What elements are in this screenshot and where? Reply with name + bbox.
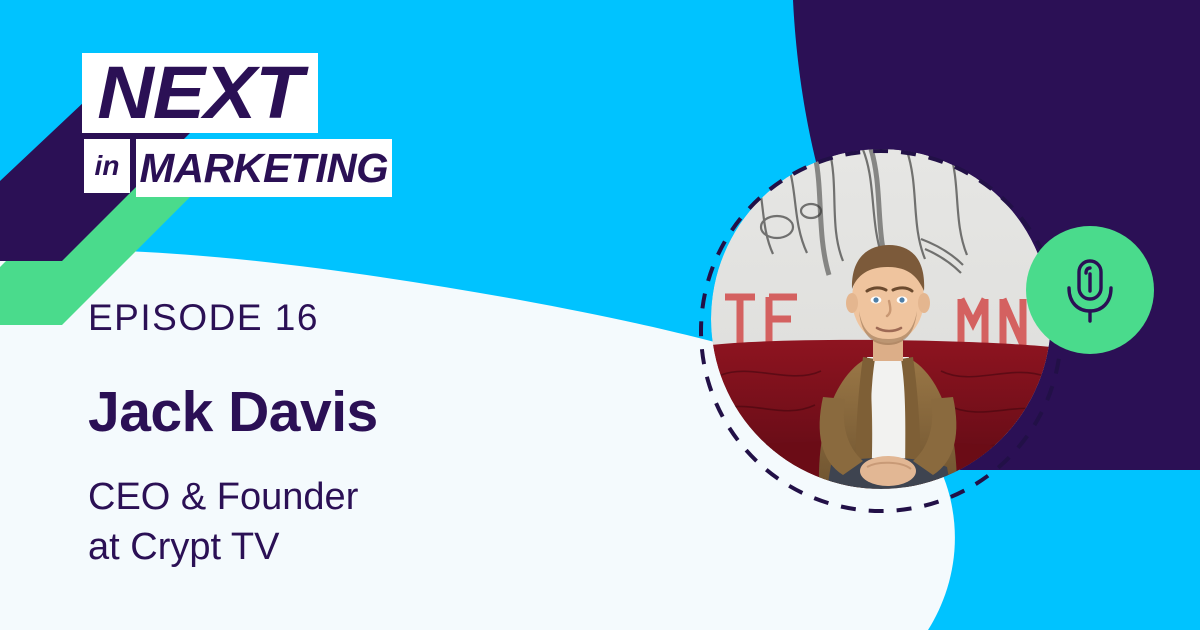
microphone-badge[interactable] <box>1026 226 1154 354</box>
guest-role-line-1: CEO & Founder <box>88 472 608 522</box>
episode-copy-block: EPISODE 16 Jack Davis CEO & Founder at C… <box>88 296 608 572</box>
logo-marketing-text: MARKETING <box>140 148 389 189</box>
guest-role: CEO & Founder at Crypt TV <box>88 472 608 572</box>
guest-role-line-2: at Crypt TV <box>88 522 608 572</box>
logo-next-box: NEXT <box>82 53 318 133</box>
logo-in-box: in <box>84 139 130 193</box>
microphone-icon <box>1059 257 1121 323</box>
episode-label: EPISODE 16 <box>88 296 608 340</box>
dashed-circle-outline <box>686 136 1076 526</box>
brand-logo[interactable]: NEXT in MARKETING <box>0 0 520 260</box>
logo-in-text: in <box>95 152 120 180</box>
logo-next-text: NEXT <box>98 56 303 130</box>
guest-name: Jack Davis <box>88 382 608 442</box>
logo-marketing-box: MARKETING <box>136 139 392 197</box>
podcast-episode-card: NEXT in MARKETING EPISODE 16 Jack Davis … <box>0 0 1200 630</box>
